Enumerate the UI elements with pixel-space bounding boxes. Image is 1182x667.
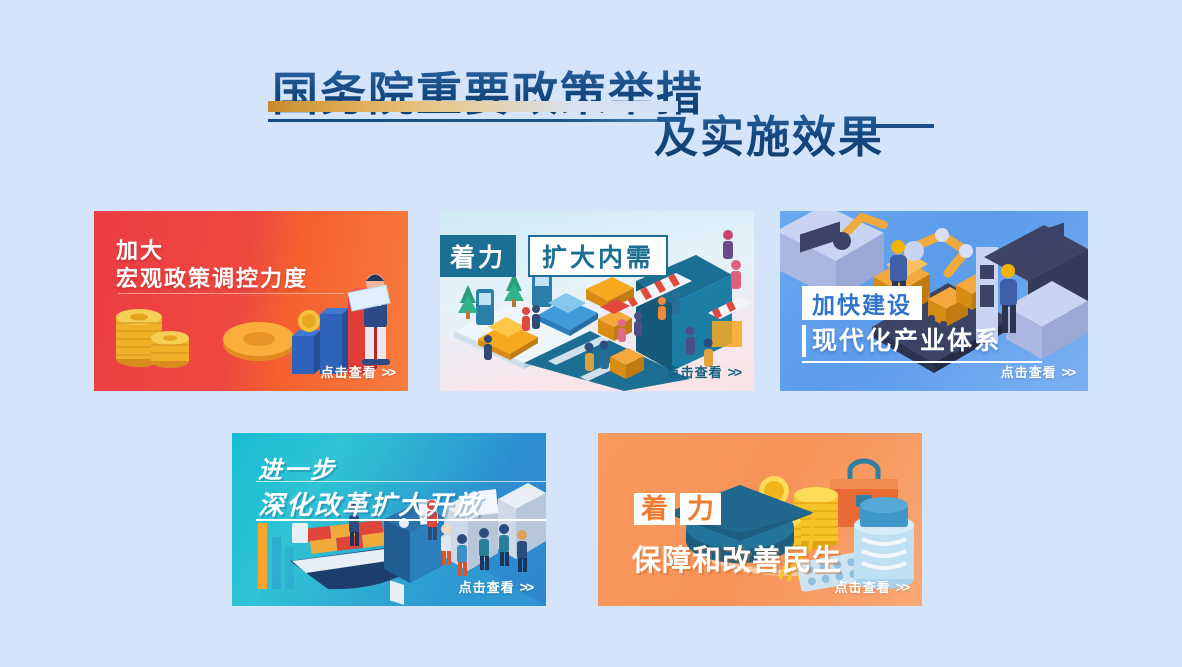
card4-cta[interactable]: 点击查看>>: [459, 577, 532, 596]
modern-industrial-system-card[interactable]: 加快建设 现代化产业体系 点击查看>>: [780, 211, 1088, 391]
card2-cta-label: 点击查看: [667, 365, 723, 380]
card2-badge-outlined: 扩大内需: [528, 235, 668, 277]
livelihood-card[interactable]: 着 力 保障和改善民生 点击查看>>: [598, 433, 922, 606]
card3-cta[interactable]: 点击查看>>: [1001, 362, 1074, 381]
gold-accent-bar: [268, 101, 678, 112]
card2-badge-filled: 着力: [440, 235, 516, 277]
page-title-line-2: 及实施效果: [654, 101, 884, 165]
card3-cta-label: 点击查看: [1001, 365, 1057, 380]
card5-badge-2: 力: [680, 493, 721, 525]
card1-cta-label: 点击查看: [321, 365, 377, 380]
card5-title-line-2: 保障和改善民生: [632, 537, 842, 579]
macro-policy-card[interactable]: 加大 宏观政策调控力度 点击查看>>: [94, 211, 408, 391]
card1-divider: [118, 293, 344, 294]
policy-overview-page: 国务院重要政策举措 及实施效果: [0, 0, 1182, 667]
card2-cta[interactable]: 点击查看>>: [667, 362, 740, 381]
card1-cta[interactable]: 点击查看>>: [321, 362, 394, 381]
title-tail-dash: [876, 124, 934, 128]
card4-title-line-2: 深化改革扩大开放: [258, 485, 482, 522]
card4-cta-arrows-icon: >>: [520, 579, 532, 595]
card5-badge-1: 着: [634, 493, 675, 525]
title-underline-rule: [268, 119, 680, 122]
card4-divider-bottom: [256, 519, 546, 521]
card4-title-line-1: 进一步: [258, 450, 336, 485]
card3-cta-arrows-icon: >>: [1062, 364, 1074, 380]
reform-opening-up-card[interactable]: 进一步 深化改革扩大开放 点击查看>>: [232, 433, 546, 606]
card5-cta-arrows-icon: >>: [896, 579, 908, 595]
card3-title-line-2: 现代化产业体系: [802, 325, 1001, 357]
page-title-line-1: 国务院重要政策举措: [272, 58, 704, 124]
card4-divider-top: [256, 481, 546, 482]
page-header: 国务院重要政策举措 及实施效果: [0, 0, 1182, 180]
card5-cta[interactable]: 点击查看>>: [835, 577, 908, 596]
card5-badges: 着 力: [634, 493, 721, 525]
card1-cta-arrows-icon: >>: [382, 364, 394, 380]
card4-cta-label: 点击查看: [459, 580, 515, 595]
card5-cta-label: 点击查看: [835, 580, 891, 595]
card2-cta-arrows-icon: >>: [728, 364, 740, 380]
card3-title-line-1: 加快建设: [802, 286, 922, 320]
card1-title-line-2: 宏观政策调控力度: [116, 261, 308, 293]
domestic-demand-card[interactable]: 着力 扩大内需 点击查看>>: [440, 211, 754, 391]
